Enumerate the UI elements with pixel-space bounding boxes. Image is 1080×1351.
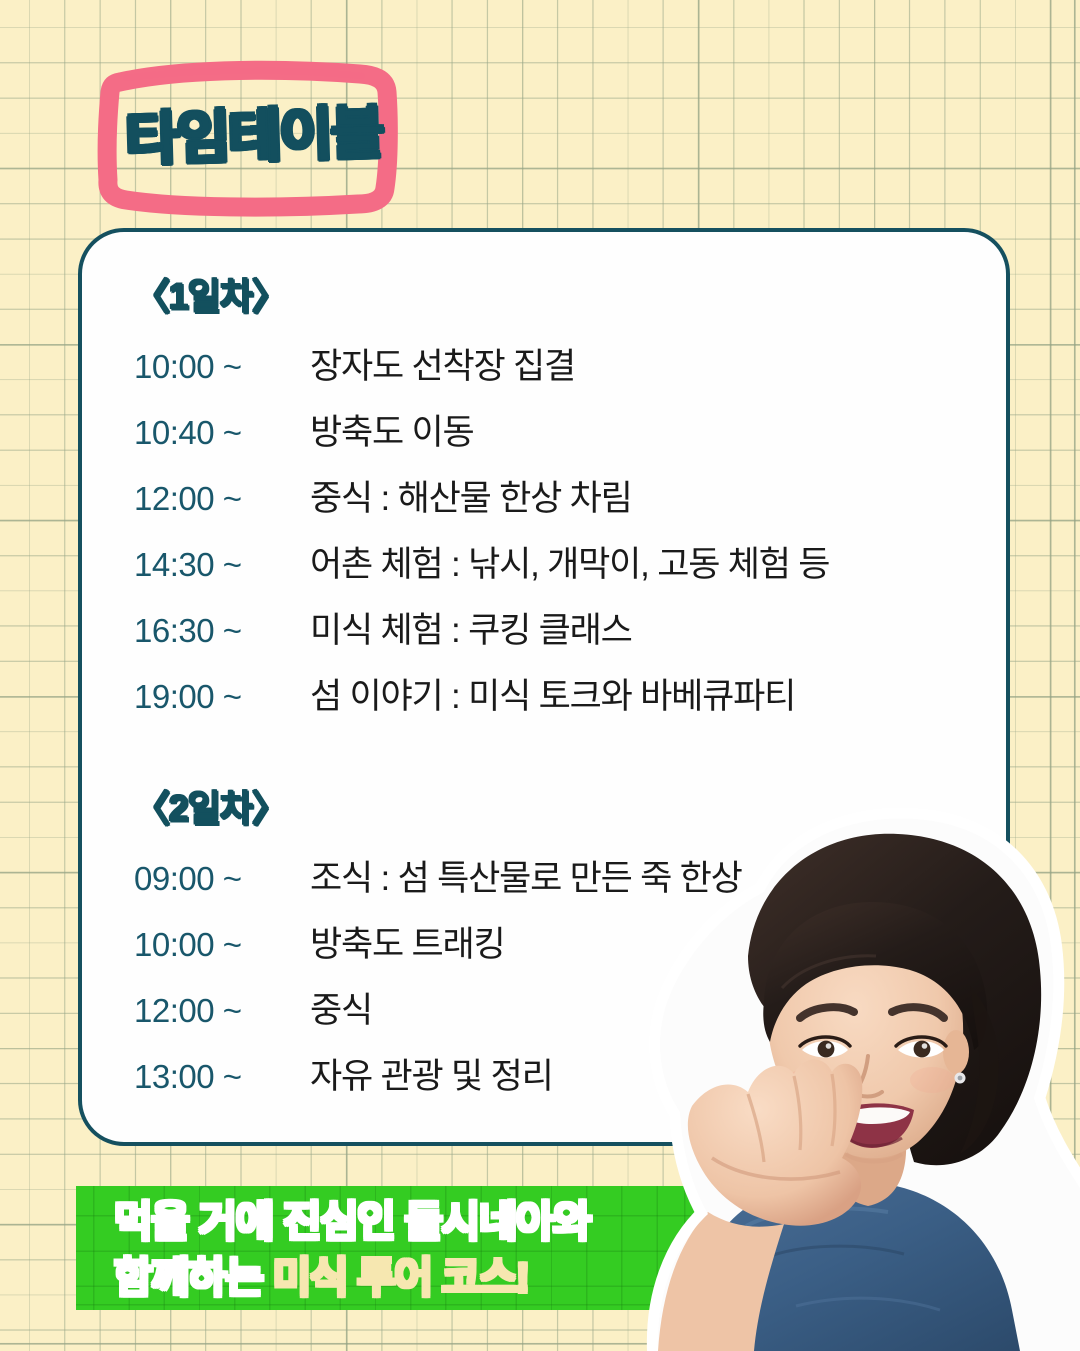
poster-root: 타임테이블 〈1일차〉 10:00 ~ 장자도 선착장 집결 10:40 ~ 방… — [0, 0, 1080, 1351]
row-desc: 미식 체험 : 쿠킹 클래스 — [310, 602, 632, 653]
row-time: 10:00 ~ — [134, 348, 310, 386]
row-desc: 어촌 체험 : 낚시, 개막이, 고동 체험 등 — [310, 536, 829, 587]
eye-left — [818, 1041, 835, 1058]
eye-right — [914, 1041, 931, 1058]
row-time: 19:00 ~ — [134, 678, 310, 716]
row-time: 16:30 ~ — [134, 612, 310, 650]
schedule-row: 14:30 ~ 어촌 체험 : 낚시, 개막이, 고동 체험 등 — [134, 536, 986, 602]
row-desc: 방축도 이동 — [310, 404, 474, 455]
row-time: 14:30 ~ — [134, 546, 310, 584]
schedule-row: 16:30 ~ 미식 체험 : 쿠킹 클래스 — [134, 602, 986, 668]
day-heading-1: 〈1일차〉 — [134, 268, 986, 320]
row-time: 13:00 ~ — [134, 1058, 310, 1096]
banner-line-2-plain: 함께하는 — [114, 1254, 273, 1301]
page-title: 타임테이블 — [102, 54, 406, 214]
row-desc: 섬 이야기 : 미식 토크와 바베큐파티 — [310, 668, 795, 719]
row-time: 10:00 ~ — [134, 926, 310, 964]
title-badge: 타임테이블 — [104, 58, 404, 210]
schedule-row: 12:00 ~ 중식 : 해산물 한상 차림 — [134, 470, 986, 536]
schedule-row: 19:00 ~ 섬 이야기 : 미식 토크와 바베큐파티 — [134, 668, 986, 734]
host-photo — [596, 806, 1080, 1351]
banner-line-2-accent: 미식 투어 코스! — [273, 1254, 529, 1301]
row-desc: 자유 관광 및 정리 — [310, 1048, 553, 1099]
row-time: 12:00 ~ — [134, 480, 310, 518]
schedule-row: 10:00 ~ 장자도 선착장 집결 — [134, 338, 986, 404]
row-time: 09:00 ~ — [134, 860, 310, 898]
row-desc: 중식 — [310, 982, 372, 1033]
row-time: 10:40 ~ — [134, 414, 310, 452]
row-desc: 장자도 선착장 집결 — [310, 338, 575, 389]
row-desc: 방축도 트래킹 — [310, 916, 505, 967]
row-time: 12:00 ~ — [134, 992, 310, 1030]
schedule-row: 10:40 ~ 방축도 이동 — [134, 404, 986, 470]
row-desc: 중식 : 해산물 한상 차림 — [310, 470, 632, 521]
